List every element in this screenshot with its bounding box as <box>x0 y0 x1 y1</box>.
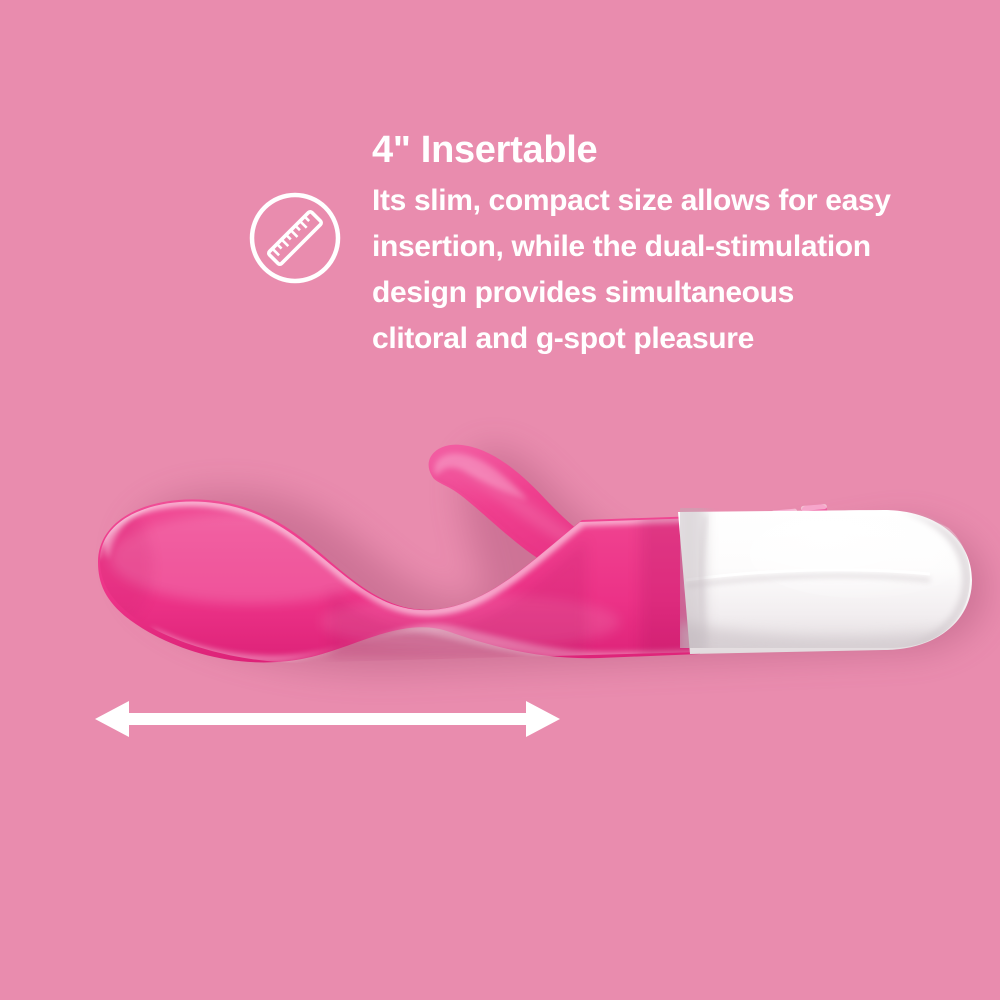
feature-description-line-3: design provides simultaneous <box>372 270 982 316</box>
ruler-icon <box>248 191 342 285</box>
product-image <box>0 390 1000 720</box>
feature-callout: 4" Insertable Its slim, compact size all… <box>240 125 980 385</box>
feature-text-group: 4" Insertable Its slim, compact size all… <box>372 125 982 362</box>
feature-description-line-4: clitoral and g-spot pleasure <box>372 316 982 362</box>
insertable-length-arrow <box>95 698 560 740</box>
feature-headline: 4" Insertable <box>372 125 982 175</box>
feature-description-line-1: Its slim, compact size allows for easy <box>372 178 982 224</box>
product-feature-canvas: 4" Insertable Its slim, compact size all… <box>0 0 1000 1000</box>
feature-description: Its slim, compact size allows for easy i… <box>372 175 982 362</box>
feature-description-line-2: insertion, while the dual-stimulation <box>372 224 982 270</box>
